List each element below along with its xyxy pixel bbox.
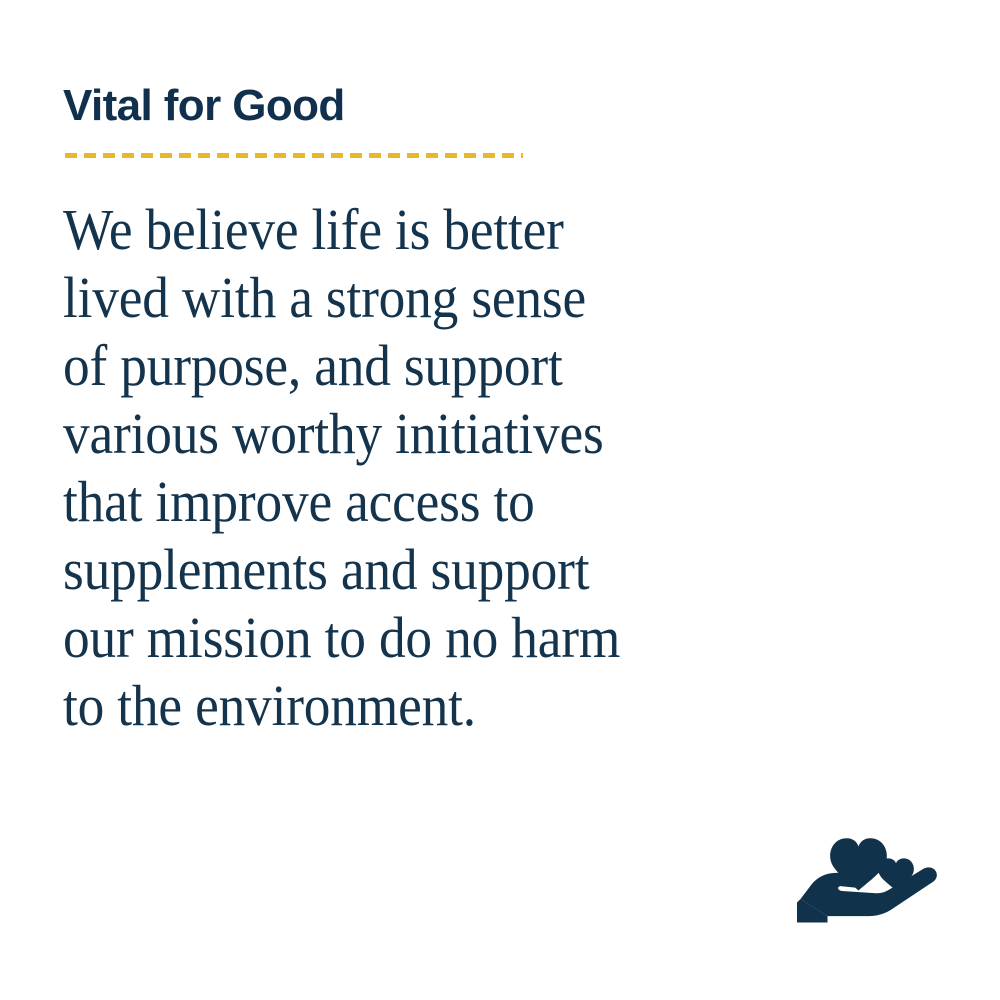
- body-copy: We believe life is better lived with a s…: [63, 196, 853, 740]
- body-line: various worthy initiatives: [63, 400, 790, 468]
- page-title: Vital for Good: [63, 81, 345, 131]
- body-line: that improve access to: [63, 468, 790, 536]
- body-line: to the environment.: [63, 672, 790, 740]
- body-line: of purpose, and support: [63, 332, 790, 400]
- dashed-divider: [65, 153, 523, 158]
- body-line: supplements and support: [63, 536, 790, 604]
- body-line: lived with a strong sense: [63, 264, 790, 332]
- body-line: We believe life is better: [63, 196, 790, 264]
- body-line: our mission to do no harm: [63, 604, 790, 672]
- hand-holding-hearts-icon: [797, 828, 937, 923]
- vital-for-good-card: Vital for Good We believe life is better…: [0, 0, 1000, 1000]
